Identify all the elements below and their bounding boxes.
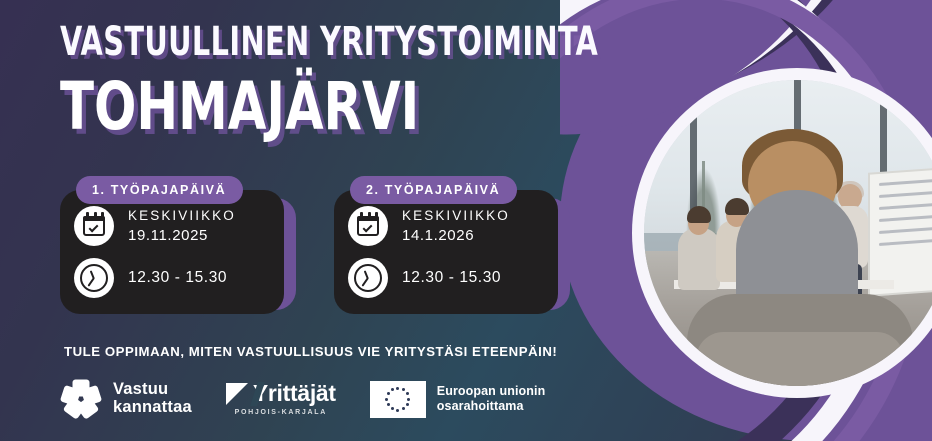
calendar-check-icon [348,206,388,246]
logo-eu-line1: Euroopan unionin [437,384,546,399]
eu-flag-icon [370,381,426,418]
clock-icon [348,258,388,298]
workshop-time: 12.30 - 15.30 [128,269,227,287]
promo-banner: VASTUULLINEN YRITYSTOIMINTA TOHMAJÄRVI 1… [0,0,932,441]
workshop-date: 19.11.2025 [128,226,236,246]
workshop-date-row: KESKIVIIKKO 19.11.2025 [74,206,270,246]
calendar-check-icon [74,206,114,246]
workshop-time-row: 12.30 - 15.30 [74,258,270,298]
workshop-badge: 1. TYÖPAJAPÄIVÄ [76,176,243,204]
workshop-cards: 1. TYÖPAJAPÄIVÄ KESKIVIIKKO 19.11.2025 [60,176,566,314]
logo-eu-line2: osarahoittama [437,399,546,414]
workshop-time: 12.30 - 15.30 [402,269,501,287]
pinwheel-icon [60,378,102,420]
logo-yrittajat: Yrittäjät POHJOIS-KARJALA [226,383,336,416]
logo-vastuu-kannattaa: Vastuu kannattaa [60,378,192,420]
logo-vastuu-line1: Vastuu [113,381,192,399]
logo-yrittajat-name: Yrittäjät [253,383,336,405]
triangle-icon [226,383,248,405]
logo-yrittajat-region: POHJOIS-KARJALA [235,409,327,416]
workshop-badge: 2. TYÖPAJAPÄIVÄ [350,176,517,204]
logo-row: Vastuu kannattaa Yrittäjät POHJOIS-KARJA… [60,378,545,420]
workshop-card-2: 2. TYÖPAJAPÄIVÄ KESKIVIIKKO 14.1.2026 [334,176,566,314]
workshop-card-body: KESKIVIIKKO 19.11.2025 12.30 - 15.30 [60,190,284,314]
banner-kicker: VASTUULLINEN YRITYSTOIMINTA [60,22,508,62]
workshop-weekday: KESKIVIIKKO [128,206,236,226]
logo-eu: Euroopan unionin osarahoittama [370,381,546,418]
workshop-date-row: KESKIVIIKKO 14.1.2026 [348,206,544,246]
workshop-card-body: KESKIVIIKKO 14.1.2026 12.30 - 15.30 [334,190,558,314]
workshop-photo [644,80,932,386]
photo-flipchart [870,169,932,294]
banner-headline: TOHMAJÄRVI [60,74,530,140]
workshop-card-1: 1. TYÖPAJAPÄIVÄ KESKIVIIKKO 19.11.2025 [60,176,292,314]
photo-attendee-hair [725,198,749,215]
photo-armchair [687,294,913,386]
banner-tagline: TULE OPPIMAAN, MITEN VASTUULLISUUS VIE Y… [64,344,557,359]
photo-attendee [678,228,720,290]
photo-attendee-hair [687,206,711,223]
workshop-time-row: 12.30 - 15.30 [348,258,544,298]
workshop-date: 14.1.2026 [402,226,510,246]
clock-icon [74,258,114,298]
logo-vastuu-line2: kannattaa [113,399,192,417]
workshop-weekday: KESKIVIIKKO [402,206,510,226]
